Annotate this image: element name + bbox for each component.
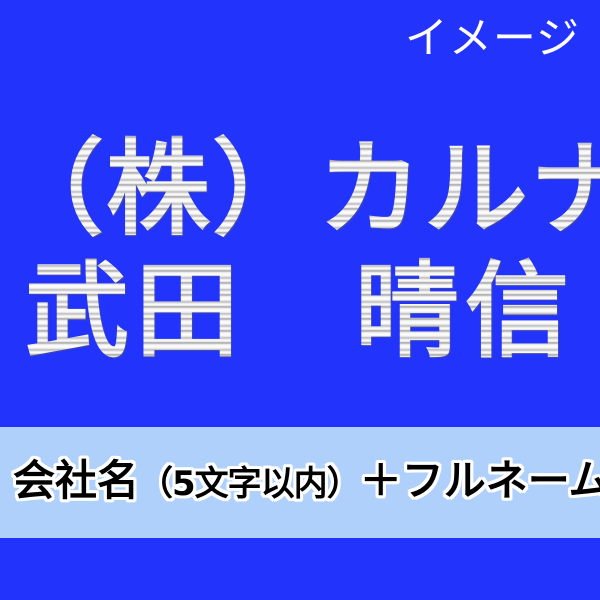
image-sample-label: イメージ: [405, 14, 580, 64]
engraving-line-2: 武田 晴信: [0, 250, 600, 372]
caption-paren-open: （: [139, 464, 172, 504]
engraving-preview-text: （株）カルナ 武田 晴信: [0, 128, 600, 372]
caption-band: 会社名（5文字以内）＋フルネーム: [0, 427, 600, 538]
caption-limit-part: 5文字以内: [172, 464, 327, 504]
engraving-line-1: （株）カルナ: [0, 128, 600, 250]
caption-company-part: 会社名: [13, 456, 139, 505]
preview-canvas: イメージ （株）カルナ 武田 晴信 会社名（5文字以内）＋フルネーム: [0, 0, 600, 600]
caption-fullname-part: フルネーム: [402, 456, 600, 505]
caption-paren-close: ）: [327, 464, 360, 504]
caption-label: 会社名（5文字以内）＋フルネーム: [0, 456, 600, 509]
caption-plus-sign: ＋: [360, 456, 402, 505]
